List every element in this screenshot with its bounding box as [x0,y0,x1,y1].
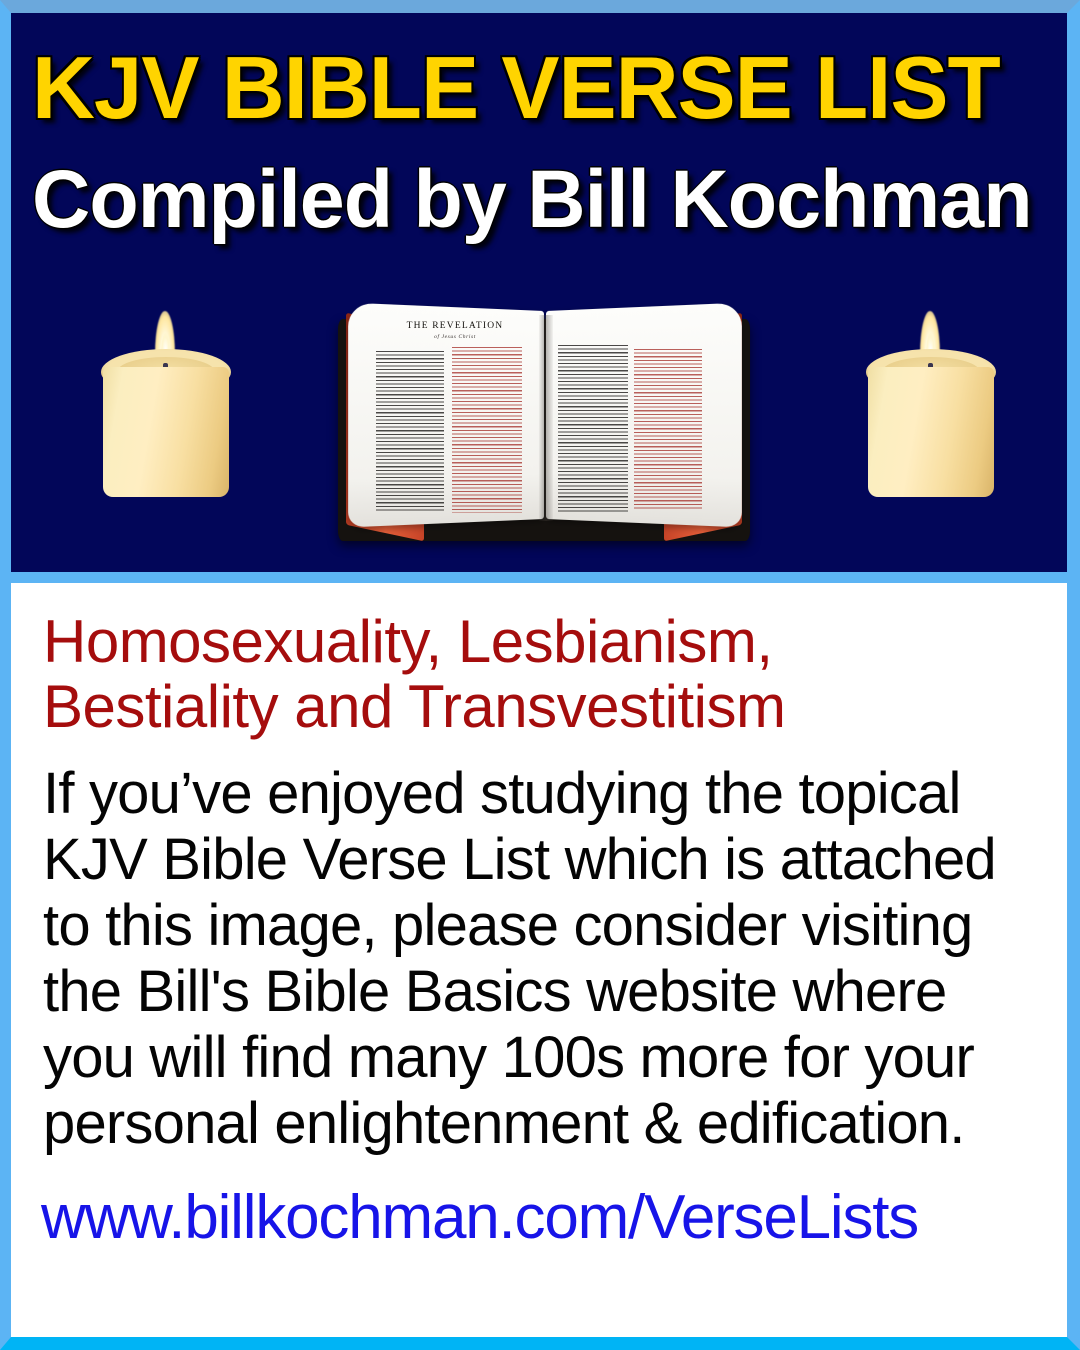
candle-body [103,367,229,497]
bible-text-column [452,347,522,513]
promo-paragraph: If you’ve enjoyed studying the topical K… [43,761,1043,1157]
bible-page-subheading: of Jesus Christ [380,334,530,340]
website-url-link[interactable]: www.billkochman.com/VerseLists [41,1183,1043,1253]
hero-artwork: THE REVELATION of Jesus Christ [11,285,1067,555]
candle-left-icon [91,305,241,505]
bible-gutter [539,315,553,521]
bible-page-heading: THE REVELATION [380,321,530,331]
topic-heading: Homosexuality, Lesbianism, Bestiality an… [43,609,943,739]
poster-graphic: KJV BIBLE VERSE LIST Compiled by Bill Ko… [0,0,1080,1350]
open-bible-image: THE REVELATION of Jesus Christ [334,293,754,548]
candle-right-icon [856,305,1006,505]
page-subtitle-author: Compiled by Bill Kochman [32,155,1032,245]
hero-divider [11,572,1067,583]
candle-body [868,367,994,497]
bible-text-column [634,349,702,511]
bible-text-column [558,345,628,513]
content-panel: Homosexuality, Lesbianism, Bestiality an… [11,609,1067,1253]
page-title: KJV BIBLE VERSE LIST [32,41,1000,135]
bible-text-column [376,351,444,513]
hero-panel: KJV BIBLE VERSE LIST Compiled by Bill Ko… [11,13,1067,572]
